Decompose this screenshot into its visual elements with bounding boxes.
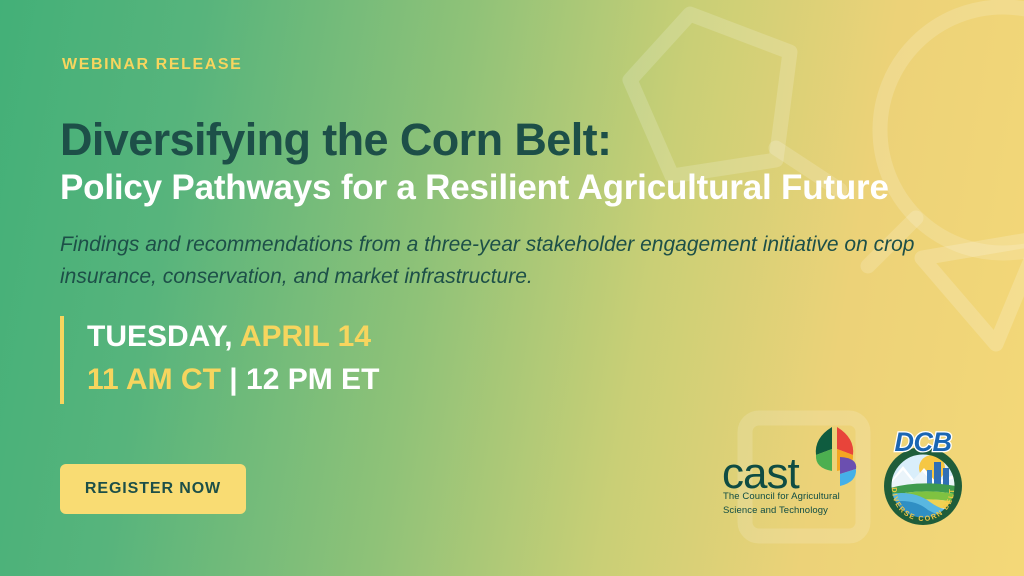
cast-logo[interactable]: cast The Council for Agricultural Scienc… bbox=[718, 424, 868, 524]
promo-banner: WEBINAR RELEASE Diversifying the Corn Be… bbox=[0, 0, 1024, 576]
dcb-wordmark: DCB bbox=[895, 427, 952, 457]
register-now-button[interactable]: REGISTER NOW bbox=[60, 464, 246, 514]
event-time-line: 11 AM CT | 12 PM ET bbox=[87, 359, 379, 402]
event-date-line: TUESDAY, APRIL 14 bbox=[87, 316, 379, 359]
event-time-primary: 11 AM CT bbox=[87, 363, 221, 396]
page-subtitle: Policy Pathways for a Resilient Agricult… bbox=[60, 169, 889, 208]
cast-tagline-line1: The Council for Agricultural bbox=[723, 490, 858, 504]
event-time-secondary: 12 PM ET bbox=[246, 363, 379, 396]
event-time-separator: | bbox=[229, 363, 237, 396]
cast-tagline-line2: Science and Technology bbox=[723, 504, 858, 518]
cast-tagline: The Council for Agricultural Science and… bbox=[723, 490, 858, 518]
description-text: Findings and recommendations from a thre… bbox=[60, 229, 970, 292]
dcb-logo[interactable]: DIVERSE CORN BELT DCB bbox=[870, 424, 976, 528]
page-title: Diversifying the Corn Belt: bbox=[60, 116, 611, 164]
event-datetime-block: TUESDAY, APRIL 14 11 AM CT | 12 PM ET bbox=[60, 316, 379, 404]
cast-leaf-mark-icon bbox=[812, 424, 864, 491]
event-date-label: APRIL 14 bbox=[240, 320, 371, 353]
eyebrow-label: WEBINAR RELEASE bbox=[62, 57, 242, 73]
event-day-label: TUESDAY, bbox=[87, 320, 233, 353]
